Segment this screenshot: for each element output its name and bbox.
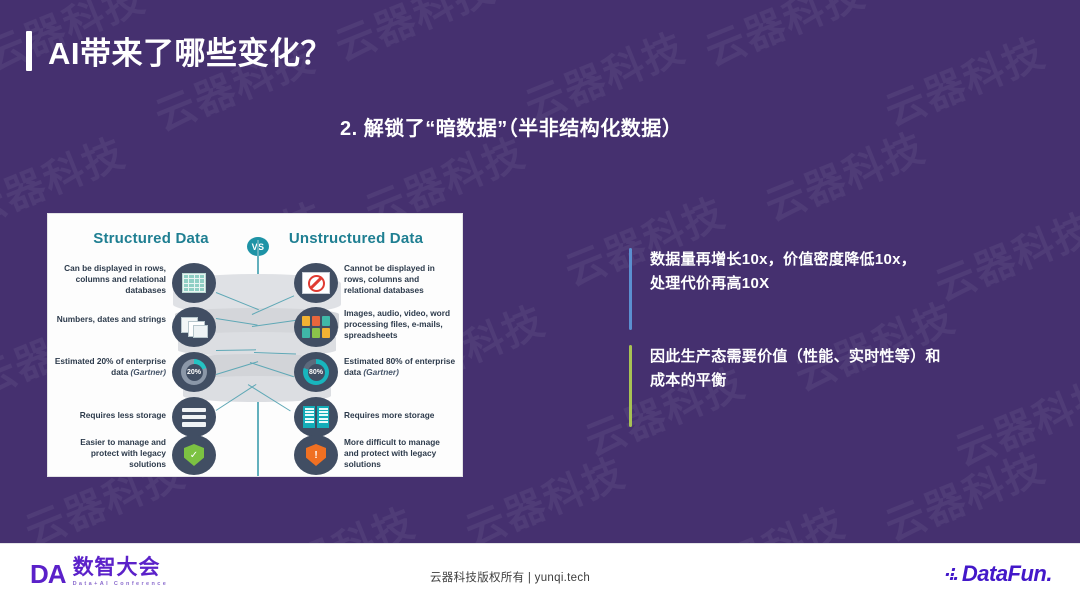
orange-shield-icon: ! [294, 435, 338, 475]
slide-root: 云器科技 云器科技 云器科技 云器科技 云器科技 云器科技 云器科技 云器科技 … [0, 0, 1080, 608]
row-label-right-source: (Gartner) [363, 367, 399, 377]
title-label: AI带来了哪些变化？ [48, 28, 332, 73]
callout-accent-bar [629, 248, 632, 330]
papers-glyph [181, 317, 207, 337]
row-label-right-main: Estimated 80% of enterprise data [344, 356, 455, 377]
ban-glyph [302, 272, 330, 294]
files-glyph [302, 316, 330, 338]
datafun-dots-icon [945, 568, 960, 580]
row-label-right: Images, audio, video, word processing fi… [344, 308, 456, 341]
subtitle-label: 2. 解锁了“暗数据”（半非结构化数据） [340, 112, 682, 141]
row-label-right: Cannot be displayed in rows, columns and… [344, 263, 456, 296]
callout-data-growth: 数据量再增长10x，价值密度降低10x， 处理代价再高10X [629, 248, 916, 330]
prohibited-screen-icon [294, 263, 338, 303]
callout-text: 因此生产态需要价值（性能、实时性等）和 成本的平衡 [650, 345, 941, 427]
callout-line: 处理代价再高10X [650, 272, 916, 296]
mixed-files-icon [294, 307, 338, 347]
callout-text: 数据量再增长10x，价值密度降低10x， 处理代价再高10X [650, 248, 916, 330]
row-label-left: Numbers, dates and strings [54, 314, 166, 325]
shield-glyph: ! [306, 444, 326, 466]
datafun-wordmark: DataFun. [962, 563, 1052, 585]
server-glyph [182, 408, 206, 427]
infographic: Structured Data VS Unstructured Data [48, 214, 462, 476]
watermark-text: 云器科技 [695, 0, 872, 77]
page-title: AI带来了哪些变化？ [26, 28, 332, 73]
infographic-panel: Structured Data VS Unstructured Data [47, 213, 463, 477]
row-label-right: More difficult to manage and protect wit… [344, 437, 456, 470]
watermark-text: 云器科技 [945, 361, 1080, 478]
logo-en-label: Data+AI Conference [73, 581, 169, 587]
row-label-right: Requires more storage [344, 410, 456, 421]
footer: DA 数智大会 Data+AI Conference 云器科技版权所有 | yu… [0, 543, 1080, 608]
callout-line: 成本的平衡 [650, 369, 941, 393]
datafun-logo: DataFun. [946, 563, 1052, 585]
infographic-row: Numbers, dates and strings Images, audio… [48, 307, 462, 353]
header-unstructured: Unstructured Data [260, 230, 452, 247]
callout-line: 因此生产态需要价值（性能、实时性等）和 [650, 345, 941, 369]
server-small-icon [172, 397, 216, 437]
row-label-left: Estimated 20% of enterprise data (Gartne… [54, 356, 166, 378]
watermark-text: 云器科技 [875, 21, 1052, 138]
documents-stack-icon [172, 307, 216, 347]
header-structured: Structured Data [60, 230, 242, 247]
donut-glyph: 80% [303, 359, 329, 385]
green-shield-icon: ✓ [172, 435, 216, 475]
row-label-left-source: (Gartner) [131, 367, 167, 377]
callout-cost-balance: 因此生产态需要价值（性能、实时性等）和 成本的平衡 [629, 345, 941, 427]
grid-glyph [182, 273, 206, 293]
title-accent-bar [26, 31, 32, 71]
infographic-row: Estimated 20% of enterprise data (Gartne… [48, 352, 462, 398]
logo-mark-da: DA [30, 561, 66, 587]
shield-glyph: ✓ [184, 444, 204, 466]
watermark-text: 云器科技 [455, 441, 632, 558]
row-label-left: Requires less storage [54, 410, 166, 421]
watermark-text: 云器科技 [755, 116, 932, 233]
callout-line: 数据量再增长10x，价值密度降低10x， [650, 248, 916, 272]
donut-80-icon: 80% [294, 352, 338, 392]
server-rack-icon [294, 397, 338, 437]
row-label-left: Can be displayed in rows, columns and re… [54, 263, 166, 296]
callout-accent-bar [629, 345, 632, 427]
row-label-right: Estimated 80% of enterprise data (Gartne… [344, 356, 456, 378]
donut-value: 20% [186, 364, 203, 381]
infographic-row: Easier to manage and protect with legacy… [48, 436, 462, 477]
watermark-text: 云器科技 [325, 0, 502, 72]
watermark-text: 云器科技 [925, 196, 1080, 313]
rack-glyph [303, 406, 329, 428]
row-label-left: Easier to manage and protect with legacy… [54, 437, 166, 470]
table-grid-icon [172, 263, 216, 303]
copyright-text: 云器科技版权所有 | yunqi.tech [430, 569, 590, 585]
infographic-header: Structured Data VS Unstructured Data [48, 230, 462, 256]
donut-20-icon: 20% [172, 352, 216, 392]
logo-text-group: 数智大会 Data+AI Conference [73, 557, 169, 587]
watermark-text: 云器科技 [875, 436, 1052, 553]
donut-glyph: 20% [181, 359, 207, 385]
footer-divider [0, 543, 1080, 544]
infographic-row: Can be displayed in rows, columns and re… [48, 262, 462, 308]
donut-value: 80% [308, 364, 325, 381]
logo-cn-label: 数智大会 [73, 557, 169, 578]
conference-logo: DA 数智大会 Data+AI Conference [30, 557, 168, 587]
